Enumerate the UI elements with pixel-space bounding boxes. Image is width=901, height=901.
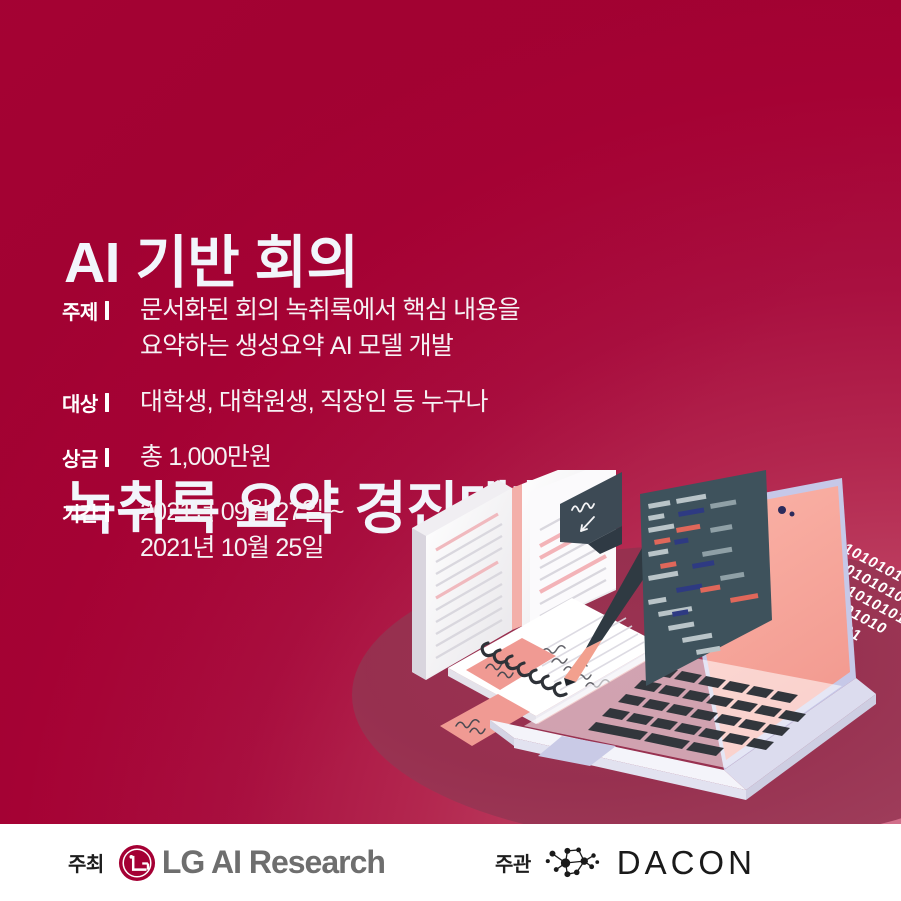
- organizer-block: 주관: [495, 844, 756, 882]
- info-label-subject: 주제: [62, 296, 98, 325]
- info-row-subject: 주제 문서화된 회의 녹취록에서 핵심 내용을 요약하는 생성요약 AI 모델 …: [62, 292, 662, 365]
- info-label-period: 기간: [62, 498, 98, 527]
- info-label-group: 주제: [62, 292, 140, 325]
- poster-canvas: AI 기반 회의 녹취록 요약 경진대회 주제 문서화된 회의 녹취록에서 핵심…: [0, 0, 901, 901]
- info-value-prize: 총 1,000만원: [140, 439, 271, 475]
- info-label-prize: 상금: [62, 443, 98, 472]
- webcam-dot-small: [790, 512, 795, 517]
- info-label-group: 대상: [62, 384, 140, 417]
- info-value-audience: 대학생, 대학원생, 직장인 등 누구나: [140, 384, 488, 420]
- desk-illustration: 01011010100101010101010101010 0101010100…: [390, 470, 901, 810]
- label-separator-bar: [105, 393, 109, 412]
- dacon-wordmark: DACON: [617, 844, 756, 882]
- label-separator-bar: [105, 448, 109, 467]
- host-block: 주최 LG AI Research: [68, 844, 385, 882]
- info-row-audience: 대상 대학생, 대학원생, 직장인 등 누구나: [62, 384, 662, 420]
- info-label-group: 기간: [62, 494, 140, 527]
- poster-footer: 주최 LG AI Research 주관: [0, 824, 901, 901]
- info-label-group: 상금: [62, 439, 140, 472]
- info-value-period: 2021년 09월 27일 ~ 2021년 10월 25일: [140, 494, 344, 567]
- info-label-audience: 대상: [62, 388, 98, 417]
- organizer-caption: 주관: [495, 848, 531, 877]
- dacon-network-icon: [545, 846, 601, 880]
- host-caption: 주최: [68, 848, 104, 877]
- lg-logo-icon: [118, 844, 156, 882]
- label-separator-bar: [105, 503, 109, 522]
- label-separator-bar: [105, 301, 109, 320]
- info-value-subject: 문서화된 회의 녹취록에서 핵심 내용을 요약하는 생성요약 AI 모델 개발: [140, 292, 520, 365]
- webcam-dot: [778, 506, 786, 514]
- lg-ai-research-wordmark: LG AI Research: [162, 844, 385, 881]
